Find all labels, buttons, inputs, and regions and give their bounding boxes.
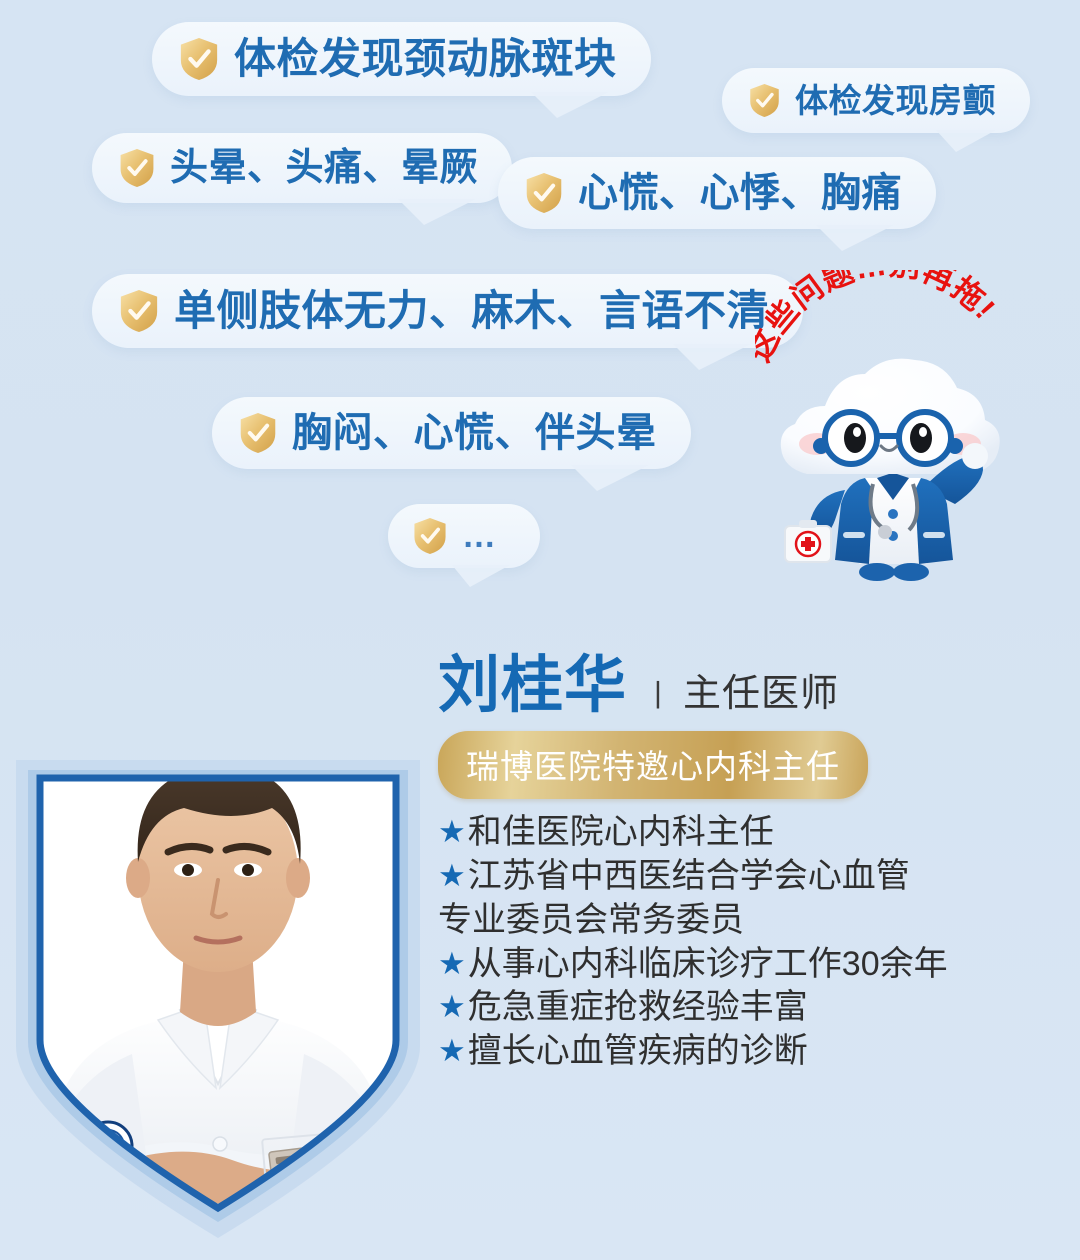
credential-text: 从事心内科临床诊疗工作30余年 <box>468 943 948 987</box>
credential-text: 和佳医院心内科主任 <box>468 811 774 855</box>
doctor-name-row: 刘桂华 丨 主任医师 <box>438 655 1058 717</box>
symptom-bubble-label: 胸闷、心慌、伴头晕 <box>292 413 657 453</box>
credential-continuation: 专业委员会常务委员 <box>438 899 1058 943</box>
credential-text-continued: 专业委员会常务委员 <box>438 899 744 943</box>
gold-shield-check-icon <box>118 288 160 334</box>
credential-text: 危急重症抢救经验丰富 <box>468 986 808 1030</box>
symptom-bubble-label: 心慌、心悸、胸痛 <box>578 173 902 213</box>
name-title-separator: 丨 <box>637 671 673 715</box>
credential-text: 擅长心血管疾病的诊断 <box>468 1030 808 1074</box>
gold-shield-check-icon <box>238 411 278 455</box>
star-icon: ★ <box>438 943 466 986</box>
poster-root: 体检发现颈动脉斑块 体检发现房颤 头晕、头痛、晕厥 心慌、心悸、胸痛 <box>0 0 1080 1260</box>
star-icon: ★ <box>438 855 466 898</box>
gold-shield-check-icon <box>412 516 448 556</box>
symptom-bubble-label: 头晕、头痛、晕厥 <box>170 149 478 187</box>
credential-item: ★ 擅长心血管疾病的诊断 <box>438 1030 1058 1074</box>
symptom-bubble[interactable]: 单侧肢体无力、麻木、言语不清 <box>92 274 803 348</box>
symptom-bubble[interactable]: 胸闷、心慌、伴头晕 <box>212 397 691 469</box>
doctor-title: 主任医师 <box>683 675 839 713</box>
doctor-info-panel: 刘桂华 丨 主任医师 瑞博医院特邀心内科主任 ★ 和佳医院心内科主任 ★ 江苏省… <box>438 655 1058 1074</box>
cloud-doctor-mascot: 这些问题…别再拖! <box>755 270 1055 590</box>
credential-item: ★ 危急重症抢救经验丰富 <box>438 986 1058 1030</box>
hospital-badge: 瑞博医院特邀心内科主任 <box>438 731 868 799</box>
gold-shield-check-icon <box>748 82 781 119</box>
symptom-bubble-label: … <box>462 519 500 553</box>
star-icon: ★ <box>438 811 466 854</box>
doctor-portrait-shield <box>8 648 428 1248</box>
star-icon: ★ <box>438 1030 466 1073</box>
star-icon: ★ <box>438 986 466 1029</box>
symptom-bubble-label: 体检发现颈动脉斑块 <box>234 38 617 80</box>
credential-item: ★ 和佳医院心内科主任 <box>438 811 1058 855</box>
symptom-bubble-more[interactable]: … <box>388 504 540 568</box>
gold-shield-check-icon <box>178 36 220 82</box>
first-aid-kit-icon <box>785 520 831 562</box>
doctor-photo <box>40 648 396 1248</box>
symptom-bubble[interactable]: 体检发现颈动脉斑块 <box>152 22 651 96</box>
symptom-bubble[interactable]: 体检发现房颤 <box>722 68 1030 133</box>
symptom-bubble[interactable]: 心慌、心悸、胸痛 <box>498 157 936 229</box>
credential-item: ★ 江苏省中西医结合学会心血管 <box>438 855 1058 899</box>
credential-text: 江苏省中西医结合学会心血管 <box>468 855 910 899</box>
symptom-bubble-label: 体检发现房颤 <box>795 84 996 117</box>
symptom-bubble-label: 单侧肢体无力、麻木、言语不清 <box>174 290 769 332</box>
doctor-name: 刘桂华 <box>438 655 627 717</box>
gold-shield-check-icon <box>118 147 156 189</box>
credential-item: ★ 从事心内科临床诊疗工作30余年 <box>438 943 1058 987</box>
symptom-bubble[interactable]: 头晕、头痛、晕厥 <box>92 133 512 203</box>
gold-shield-check-icon <box>524 171 564 215</box>
mascot-figure <box>773 328 1013 590</box>
